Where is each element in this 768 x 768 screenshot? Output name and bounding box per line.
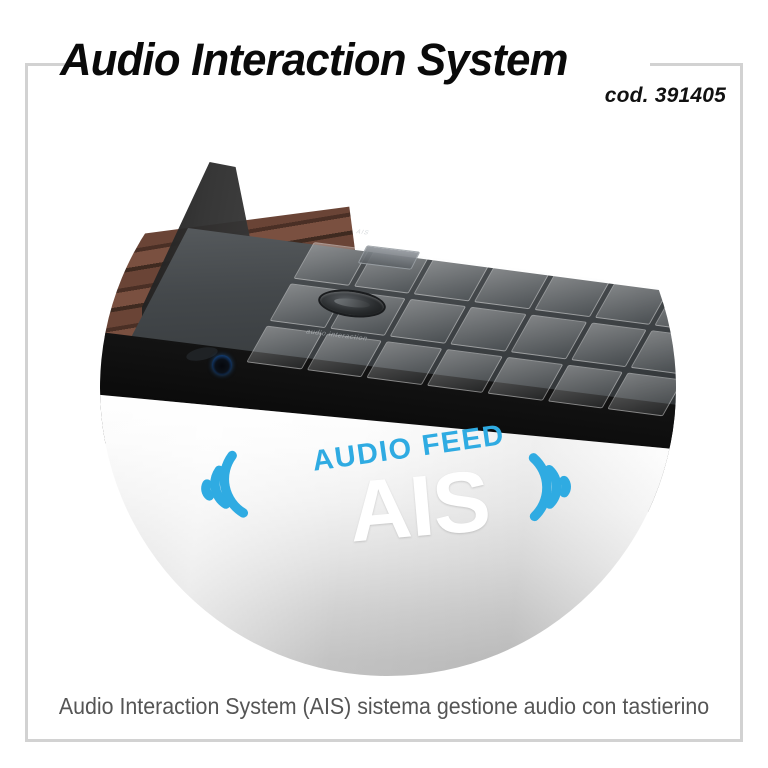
frame-bottom-edge xyxy=(25,739,743,742)
frame-top-right-segment xyxy=(650,63,743,66)
frame-top-left-segment xyxy=(25,63,65,66)
product-photo: AIS audio interaction AUDIO FEED AIS xyxy=(100,100,676,676)
frame-left-edge xyxy=(25,63,28,742)
product-sheet-page: Audio Interaction System cod. 391405 xyxy=(0,0,768,768)
page-title: Audio Interaction System xyxy=(60,34,568,86)
ais-logo-text: AIS xyxy=(345,458,492,556)
product-caption: Audio Interaction System (AIS) sistema g… xyxy=(27,693,741,720)
sound-wave-icon xyxy=(511,443,598,530)
sound-wave-icon xyxy=(167,438,268,539)
frame-right-edge xyxy=(740,63,743,742)
product-photo-scene: AIS audio interaction AUDIO FEED AIS xyxy=(100,100,676,676)
audio-jack-icon xyxy=(212,355,232,375)
